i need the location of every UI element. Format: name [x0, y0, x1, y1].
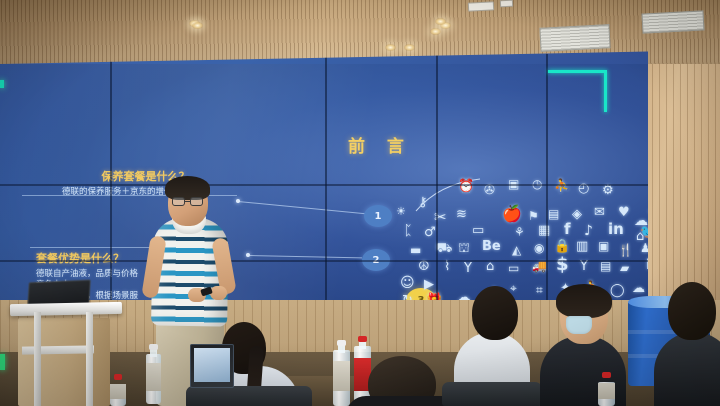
alarm-clock-icon: ⏰	[458, 180, 474, 193]
balloon-icon: ♂	[424, 226, 436, 239]
eyeglasses-right-lens-icon	[190, 197, 203, 206]
bottle-label	[146, 363, 161, 391]
lectern	[18, 318, 110, 406]
linkedin-icon: in	[608, 222, 624, 237]
face-mask	[566, 316, 592, 334]
photo-icon: ▣	[598, 240, 609, 252]
briefcase-icon: ▤	[548, 208, 559, 220]
conference-chair	[186, 386, 312, 406]
mail-icon: ✉	[594, 206, 605, 219]
bus-icon: ▬	[410, 244, 421, 256]
eyeglasses-left-lens-icon	[172, 197, 185, 206]
bottle-cap	[149, 344, 157, 350]
car-icon: ▰	[620, 262, 629, 274]
cctv-icon: ⌖	[510, 282, 517, 294]
connector-dot-2	[246, 253, 250, 257]
cocktail-icon: Y	[464, 262, 472, 275]
screen-led-indicator	[604, 70, 607, 112]
lectern-status-led	[0, 354, 5, 370]
water-bottle	[333, 340, 350, 406]
icon-cloud-collage: ⚷ ☀ ⏰ ✇ ▣ ◷ ⛹ ◴ ⚙ ✂ ≋ 🍎 ⚑ ▤ ◈ ✉ ♥ ☁ ✈ 🐦	[396, 172, 648, 314]
group-icon: ⛹	[554, 180, 570, 193]
bottle-cap	[358, 336, 368, 342]
video-wall-display[interactable]: 前 言 保养套餐是什么？ 德联的保养服务＋京东的增值服务 1 套餐优势是什么？ …	[0, 52, 648, 314]
battery-icon: ▭	[508, 262, 519, 274]
smiley-icon: ☺	[400, 276, 415, 290]
slide-title: 前 言	[348, 132, 412, 157]
conference-chair	[442, 382, 542, 406]
bottle-cap	[337, 340, 347, 346]
sun-icon: ☀	[396, 206, 406, 217]
dollar-icon: $	[556, 256, 569, 274]
slide-block-2-heading: 套餐优势是什么？	[36, 250, 138, 266]
display-bezel	[0, 260, 648, 262]
store-icon: ⌗	[536, 284, 543, 296]
bottle-label	[110, 384, 126, 399]
bottle-label	[598, 383, 615, 399]
megaphone-icon: ◭	[512, 244, 521, 256]
weather-cloud-icon: ☁	[632, 282, 645, 295]
book-icon: ▥	[576, 240, 588, 253]
water-bottle	[146, 344, 161, 404]
connector-dot-1	[236, 199, 240, 203]
pin-icon: ᛈ	[404, 224, 412, 238]
eyeglasses-bridge	[185, 201, 190, 202]
water-bottle	[110, 374, 126, 406]
wifi-icon: ≋	[456, 208, 467, 221]
chat-bubble-icon: ◯	[610, 284, 625, 297]
key-icon: ⚷	[418, 196, 428, 209]
lectern-leg	[86, 312, 93, 406]
restaurant-icon: 🍴	[618, 244, 633, 256]
downlight-icon	[192, 22, 203, 29]
shield-icon: ◈	[572, 208, 582, 221]
bottle-label	[333, 361, 350, 391]
lectern-leg	[34, 312, 41, 406]
flag-icon: ⚑	[528, 210, 539, 222]
ceiling-speaker	[468, 1, 494, 11]
divider-rule-2	[30, 247, 160, 248]
audience-laptop-screen	[194, 348, 230, 382]
facebook-icon: f	[564, 222, 571, 237]
water-bottle	[598, 372, 615, 406]
shopping-cart-icon: ⛟	[436, 242, 452, 255]
wall-led-strip	[0, 80, 4, 88]
ceiling-sensor	[500, 0, 513, 7]
calendar-icon: ▦	[538, 224, 550, 237]
ceiling-vent	[539, 24, 610, 52]
handshake-icon: ⚘	[514, 226, 525, 238]
play-icon: ▶	[424, 278, 434, 291]
eye-icon: ◉	[534, 242, 544, 254]
conference-room-scene: 前 言 保养套餐是什么？ 德联的保养服务＋京东的增值服务 1 套餐优势是什么？ …	[0, 0, 720, 406]
monitor-icon: ▭	[472, 224, 484, 237]
user-location-icon: ♟	[640, 242, 648, 254]
behance-icon: Be	[482, 240, 501, 253]
ceiling-vent	[642, 10, 705, 33]
display-bezel	[0, 184, 648, 186]
lectern-top-surface	[10, 302, 122, 316]
music-note-icon: ♪	[584, 224, 593, 238]
heart-icon: ♥	[618, 206, 630, 219]
downlight-icon	[385, 44, 396, 51]
slide-number-1-label: 1	[375, 211, 382, 222]
downlight-icon	[430, 28, 441, 35]
audience-hair	[556, 284, 612, 318]
audience-head	[472, 286, 518, 340]
bank-icon: ⛫	[458, 242, 470, 255]
slide-number-circle-1: 1	[364, 205, 392, 227]
presenter-right-hand	[210, 286, 227, 300]
downlight-icon	[404, 44, 415, 51]
lock-icon: 🔒	[554, 240, 570, 253]
apple-icon: 🍎	[502, 206, 522, 222]
bottle-cap	[602, 372, 612, 378]
lectern-shelf	[22, 345, 94, 354]
bottle-cap	[114, 374, 123, 380]
audience-head	[668, 282, 716, 340]
screen-led-indicator	[548, 70, 604, 73]
downlight-icon	[435, 18, 446, 25]
presenter-hair	[165, 176, 210, 200]
